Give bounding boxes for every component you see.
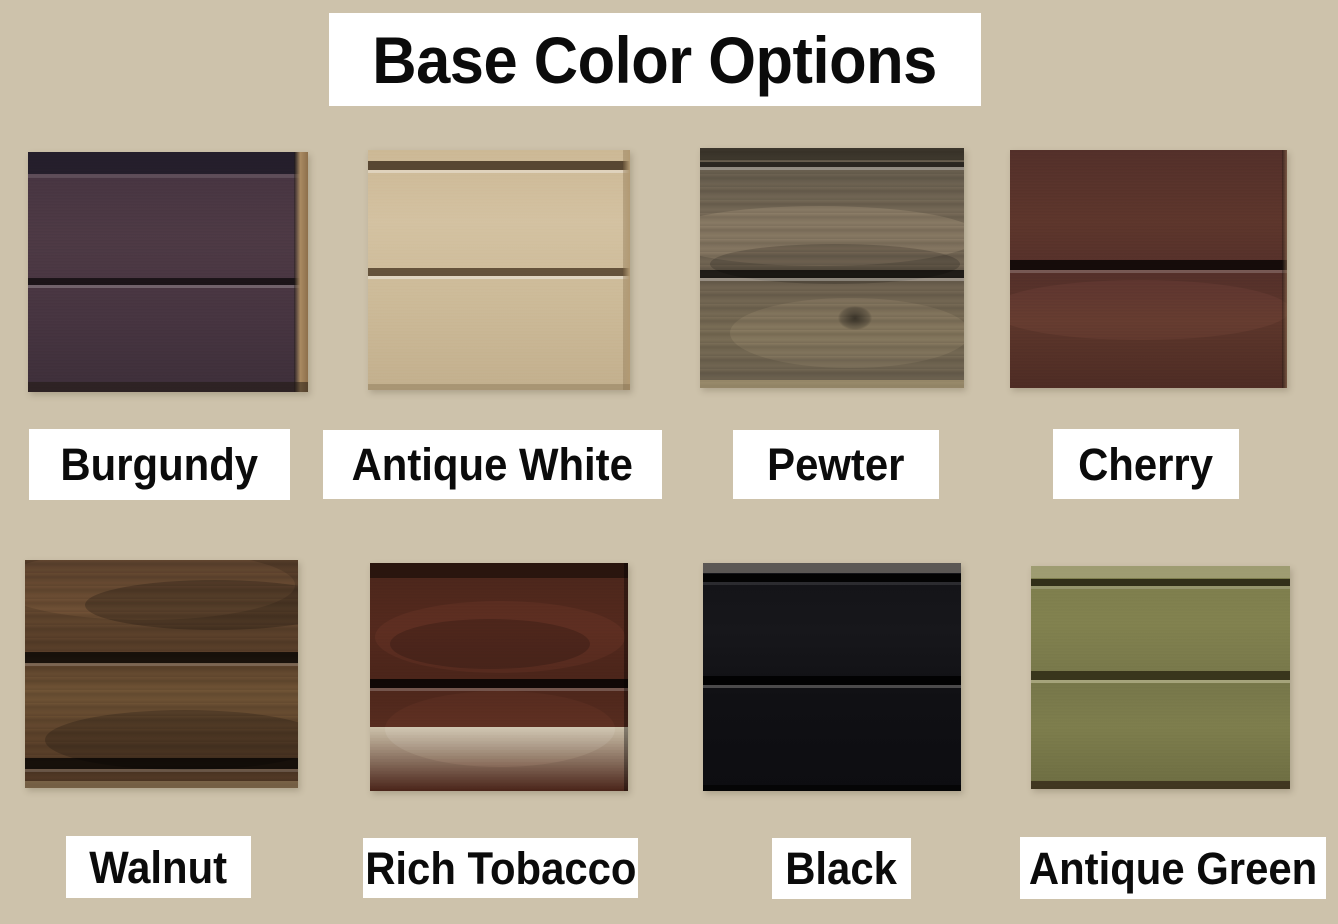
swatch-side-edge (624, 563, 628, 791)
swatch-bottom-edge (25, 781, 298, 788)
color-swatch-walnut[interactable] (25, 560, 298, 788)
swatch-bottom-edge (368, 384, 630, 390)
color-swatch-antique-white[interactable] (368, 150, 630, 390)
wood-knot (838, 306, 872, 330)
swatch-top-edge (28, 152, 308, 174)
color-label-box-antique-green: Antique Green (1020, 837, 1326, 899)
wood-grain-arc (390, 619, 590, 669)
swatch-side-edge (294, 152, 308, 392)
color-label-box-antique-white: Antique White (323, 430, 662, 499)
swatch-groove (1010, 260, 1287, 270)
color-swatch-antique-green[interactable] (1031, 566, 1290, 789)
color-label-burgundy: Burgundy (61, 442, 259, 487)
swatch-groove (368, 268, 630, 276)
swatch-groove (25, 652, 298, 663)
color-label-box-walnut: Walnut (66, 836, 251, 898)
color-swatch-pewter[interactable] (700, 148, 964, 388)
swatch-groove (28, 278, 308, 285)
swatch-groove-top (368, 161, 630, 170)
wood-grain-arc (1010, 280, 1287, 340)
swatch-bottom-edge (703, 785, 961, 791)
swatch-bottom-edge (1031, 781, 1290, 789)
color-swatch-burgundy[interactable] (28, 152, 308, 392)
swatch-top-highlight (1031, 566, 1290, 578)
color-label-box-cherry: Cherry (1053, 429, 1239, 499)
swatch-top-edge (700, 148, 964, 160)
color-options-board: Base Color Options Burgundy Antique Whit… (0, 0, 1338, 924)
swatch-top-edge (370, 563, 628, 578)
swatch-top-highlight (703, 563, 961, 573)
swatch-groove (703, 676, 961, 685)
color-swatch-cherry[interactable] (1010, 150, 1287, 388)
swatch-side-edge (1282, 150, 1287, 388)
color-label-antique-green: Antique Green (1029, 846, 1317, 891)
color-label-box-burgundy: Burgundy (29, 429, 290, 500)
color-label-cherry: Cherry (1079, 442, 1214, 487)
color-swatch-rich-tobacco[interactable] (370, 563, 628, 791)
color-label-black: Black (786, 846, 898, 891)
swatch-groove (1031, 671, 1290, 680)
swatch-groove-top (1031, 579, 1290, 586)
color-label-walnut: Walnut (90, 845, 228, 890)
wood-grain-texture (28, 152, 308, 392)
color-label-box-black: Black (772, 838, 911, 899)
swatch-bottom-edge (28, 382, 308, 392)
page-title-box: Base Color Options (329, 13, 981, 106)
color-label-box-rich-tobacco: Rich Tobacco (363, 838, 638, 898)
swatch-groove-top (700, 162, 964, 167)
wood-grain-arc (385, 691, 615, 767)
swatch-groove-bottom (25, 758, 298, 769)
page-title: Base Color Options (373, 27, 938, 93)
swatch-groove (370, 679, 628, 688)
swatch-side-edge (623, 150, 630, 390)
color-label-rich-tobacco: Rich Tobacco (365, 846, 636, 891)
color-label-pewter: Pewter (767, 442, 904, 487)
color-label-antique-white: Antique White (352, 442, 633, 487)
color-swatch-black[interactable] (703, 563, 961, 791)
swatch-top-highlight (28, 174, 308, 178)
color-label-box-pewter: Pewter (733, 430, 939, 499)
swatch-groove-top (703, 574, 961, 582)
swatch-groove (700, 270, 964, 278)
swatch-bottom-edge (700, 380, 964, 388)
